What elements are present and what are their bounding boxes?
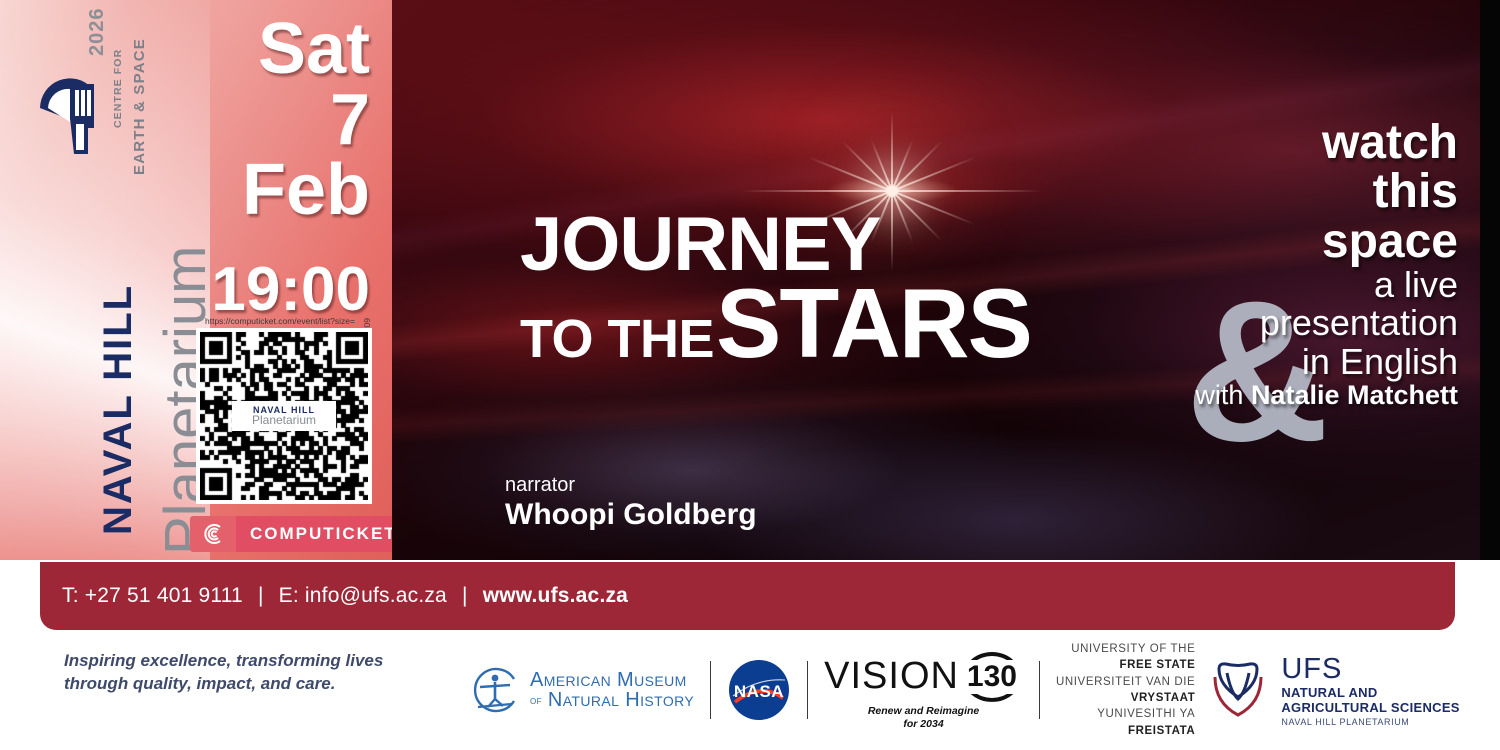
presenter-name: Natalie Matchett — [1251, 380, 1458, 410]
naval-hill-label: NAVAL HILL — [96, 284, 141, 535]
ufs-faculty-text: UFS NATURAL AND AGRICULTURAL SCIENCES NA… — [1281, 653, 1459, 727]
left-info-panel: 2026 CENTRE FOR EARTH & SPACE NAVAL HILL… — [0, 0, 392, 560]
event-date-block: Sat 7 Feb 19:00 — [190, 14, 386, 314]
right-black-edge — [1480, 0, 1500, 560]
promo-line-this: this — [1152, 167, 1458, 216]
ufs-unit: NAVAL HILL PLANETARIUM — [1281, 717, 1459, 727]
date-weekday: Sat — [190, 14, 370, 85]
promo-line-watch: watch — [1152, 118, 1458, 167]
ufs-name-l4: VRYSTAAT — [1131, 692, 1196, 704]
amnh-of: of — [530, 695, 542, 707]
ufs-shield-icon — [1205, 659, 1271, 721]
narrator-label: narrator — [505, 474, 757, 496]
promo-line-presentation: presentation — [1152, 304, 1458, 342]
amnh-line1: American Museum — [530, 670, 694, 690]
date-day: 7 — [190, 85, 370, 156]
vision-number-badge: 130 — [961, 650, 1023, 704]
contact-bar: T: +27 51 401 9111 | E: info@ufs.ac.za |… — [40, 562, 1455, 630]
starburst-icon — [879, 178, 905, 204]
centre-for-label: CENTRE FOR — [112, 49, 124, 128]
footer: Inspiring excellence, transforming lives… — [0, 630, 1500, 750]
ufs-faculty-l1: NATURAL AND — [1281, 686, 1459, 700]
tagline-line1: Inspiring excellence, transforming lives — [64, 650, 394, 673]
qr-url-text-top: https://computicket.com/event/list?size= — [205, 316, 365, 326]
title-line-to-the: TO THE — [520, 316, 714, 362]
computicket-button[interactable]: COMPUTICKET — [190, 516, 392, 552]
logo-divider-1 — [710, 661, 711, 719]
qr-center-logo: NAVAL HILL Planetarium — [232, 401, 336, 431]
vision-sub-line2: for 2034 — [868, 718, 979, 731]
ufs-name-l2: FREE STATE — [1119, 659, 1195, 671]
vision-sub-line1: Renew and Reimagine — [868, 705, 979, 718]
amnh-line2: Natural History — [548, 689, 694, 711]
contact-website[interactable]: www.ufs.ac.za — [483, 584, 628, 607]
ufs-multilingual-name: UNIVERSITY OF THE FREE STATE UNIVERSITEI… — [1056, 641, 1195, 739]
event-time: 19:00 — [190, 260, 370, 321]
ufs-name-l6: FREISTATA — [1128, 725, 1195, 737]
promo-line-a-live: a live — [1152, 266, 1458, 304]
qr-logo-line2: Planetarium — [252, 414, 316, 426]
logo-divider-2 — [807, 661, 808, 719]
presenter-prefix: with — [1195, 380, 1251, 410]
promo-text-block: watch this space a live presentation in … — [1152, 118, 1458, 410]
promo-line-presenter: with Natalie Matchett — [1152, 381, 1458, 411]
ufs-name-l1: UNIVERSITY OF THE — [1056, 641, 1195, 657]
amnh-figure-icon — [470, 665, 520, 715]
event-poster: 2026 CENTRE FOR EARTH & SPACE NAVAL HILL… — [0, 0, 1500, 750]
ufs-acronym: UFS — [1281, 653, 1459, 686]
planetarium-dome-icon — [36, 62, 104, 158]
earth-and-space-label: EARTH & SPACE — [131, 38, 148, 175]
ufs-name-l5: YUNIVESITHI YA — [1056, 706, 1195, 722]
amnh-wordmark: American Museum of Natural History — [530, 670, 694, 710]
contact-separator-1: | — [258, 584, 264, 607]
computicket-c-icon — [190, 516, 236, 552]
date-month: Feb — [190, 155, 370, 226]
contact-phone[interactable]: T: +27 51 401 9111 — [62, 584, 243, 607]
narrator-name: Whoopi Goldberg — [505, 498, 757, 533]
year-label: 2026 — [86, 8, 109, 57]
promo-line-space: space — [1152, 217, 1458, 266]
vision-130-logo: VISION 130 Renew and Reimagine for 2034 — [824, 650, 1023, 730]
nasa-meatball-icon: NASA — [727, 658, 791, 722]
narrator-credit: narrator Whoopi Goldberg — [505, 474, 757, 533]
amnh-logo: American Museum of Natural History — [470, 665, 694, 715]
tagline-line2: through quality, impact, and care. — [64, 673, 394, 696]
show-title: JOURNEY TO THE STARS — [520, 212, 1260, 366]
promo-line-in-english: in English — [1152, 343, 1458, 381]
tagline: Inspiring excellence, transforming lives… — [64, 650, 394, 696]
contact-separator-2: | — [462, 584, 468, 607]
ufs-faculty-l2: AGRICULTURAL SCIENCES — [1281, 701, 1459, 715]
ufs-name-l3: UNIVERSITEIT VAN DIE — [1056, 674, 1195, 690]
svg-text:NASA: NASA — [734, 682, 784, 701]
title-line-stars: STARS — [716, 281, 1031, 365]
contact-email[interactable]: E: info@ufs.ac.za — [279, 584, 447, 607]
partner-logos: American Museum of Natural History NASA … — [470, 636, 1460, 744]
vision-number: 130 — [966, 660, 1018, 694]
qr-code[interactable]: NAVAL HILL Planetarium — [196, 328, 372, 504]
space-hero-image: JOURNEY TO THE STARS narrator Whoopi Gol… — [392, 0, 1480, 560]
logo-divider-3 — [1039, 661, 1040, 719]
computicket-label: COMPUTICKET — [236, 516, 392, 552]
vision-word: VISION — [824, 655, 959, 698]
